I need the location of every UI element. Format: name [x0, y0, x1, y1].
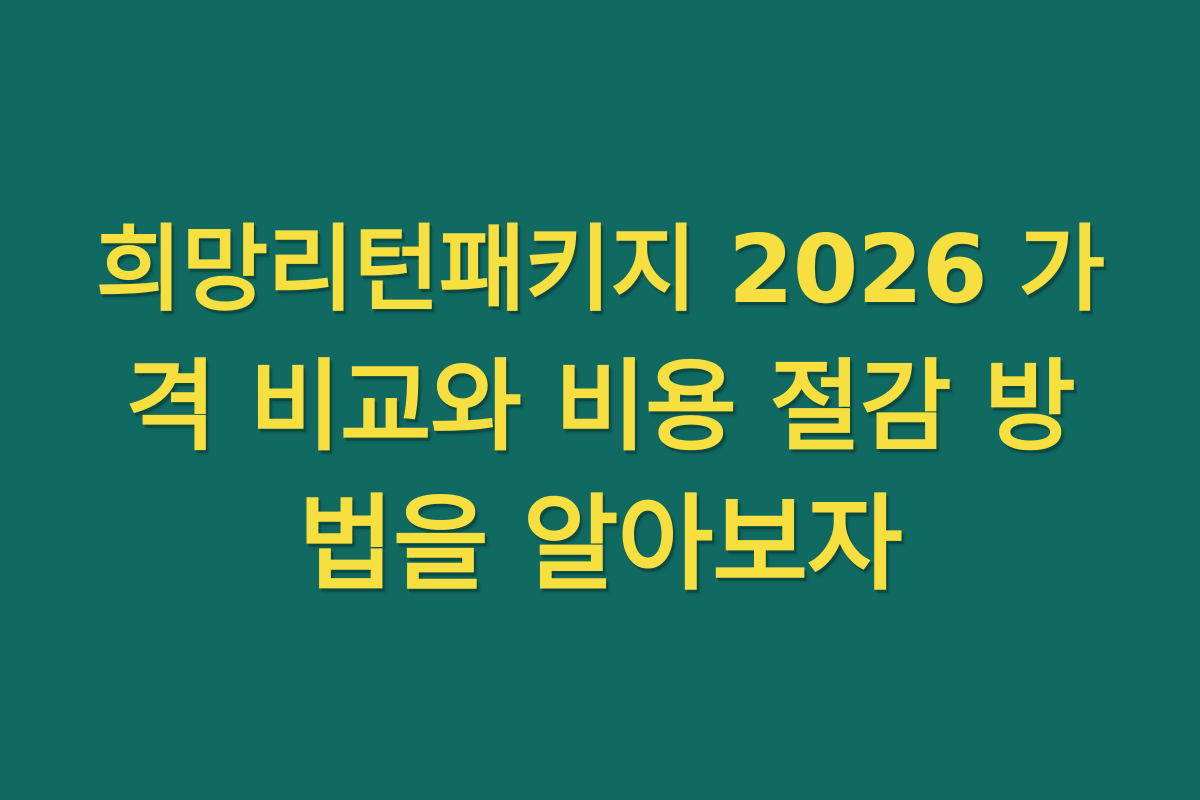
headline-line-3: 법을 알아보자 — [70, 476, 1130, 613]
headline-line-2: 격 비교와 비용 절감 방 — [70, 339, 1130, 476]
headline-line-1: 희망리턴패키지 2026 가 — [70, 202, 1130, 339]
thumbnail-canvas: 희망리턴패키지 2026 가 격 비교와 비용 절감 방 법을 알아보자 — [0, 0, 1200, 800]
headline-block: 희망리턴패키지 2026 가 격 비교와 비용 절감 방 법을 알아보자 — [70, 202, 1130, 613]
